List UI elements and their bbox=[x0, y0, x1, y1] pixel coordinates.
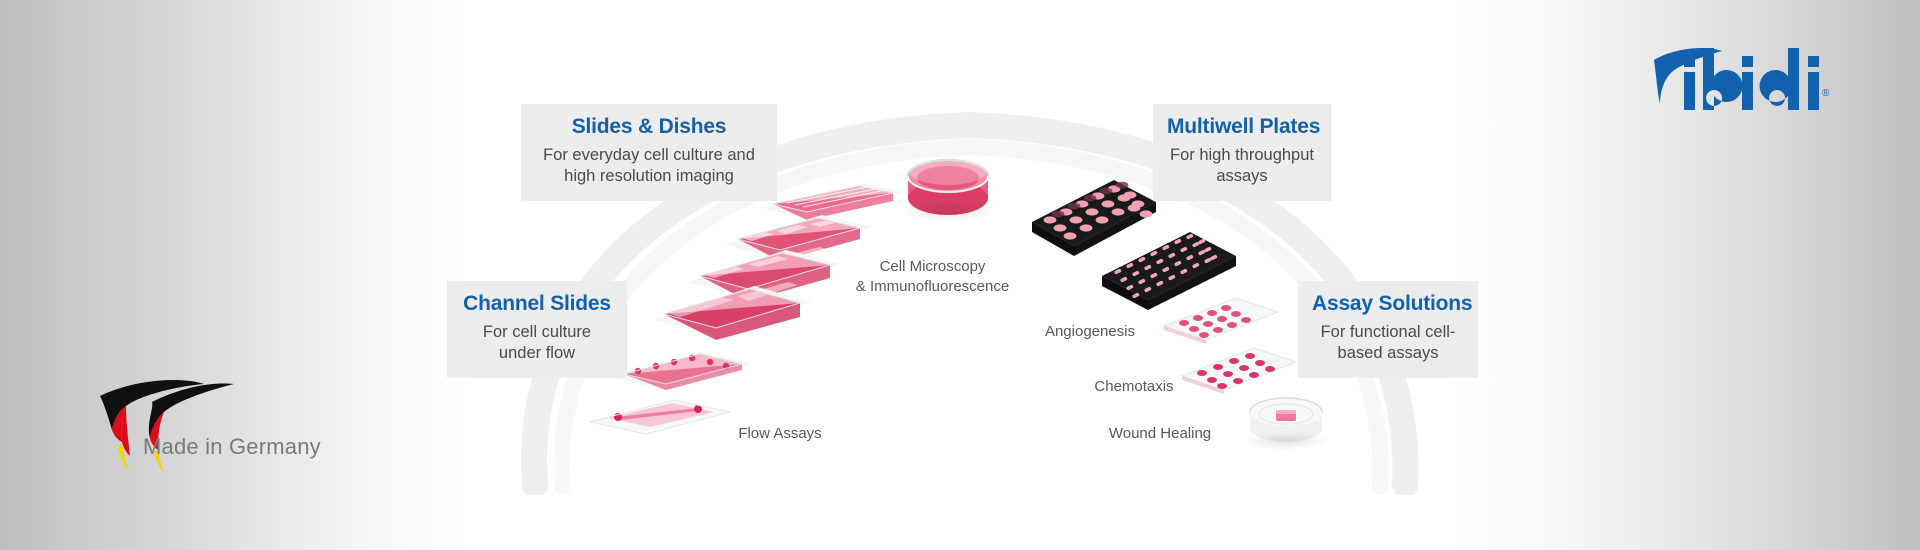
product-channel-slide-6ch bbox=[608, 340, 758, 398]
product-wound-healing-dish bbox=[1240, 388, 1332, 450]
category-card-assay-solutions[interactable]: Assay Solutions For functional cell-base… bbox=[1298, 281, 1478, 378]
caption-cell-microscopy: Cell Microscopy & Immunofluorescence bbox=[855, 257, 1010, 297]
caption-flow-assays: Flow Assays bbox=[735, 424, 825, 444]
category-subtitle: For high throughput assays bbox=[1167, 145, 1317, 187]
made-in-germany-text: Made in Germany bbox=[143, 434, 321, 460]
poster-canvas: Slides & Dishes For everyday cell cultur… bbox=[0, 0, 1920, 550]
category-title: Slides & Dishes bbox=[535, 114, 763, 140]
category-subtitle: For functional cell-based assays bbox=[1312, 322, 1464, 364]
category-subtitle: For everyday cell culture and high resol… bbox=[535, 145, 763, 187]
category-title: Multiwell Plates bbox=[1167, 114, 1317, 140]
product-chamber-slide-2well bbox=[648, 276, 820, 342]
caption-line-1: Cell Microscopy bbox=[855, 257, 1010, 277]
category-card-multiwell-plates[interactable]: Multiwell Plates For high throughput ass… bbox=[1153, 104, 1331, 201]
product-angiogenesis-slide bbox=[1160, 290, 1282, 346]
caption-angiogenesis: Angiogenesis bbox=[1040, 322, 1140, 342]
category-card-slides-dishes[interactable]: Slides & Dishes For everyday cell cultur… bbox=[521, 104, 777, 201]
caption-chemotaxis: Chemotaxis bbox=[1088, 377, 1180, 397]
caption-line-2: & Immunofluorescence bbox=[855, 277, 1010, 297]
product-channel-slide-flat bbox=[586, 392, 734, 438]
category-title: Assay Solutions bbox=[1312, 291, 1464, 317]
category-title: Channel Slides bbox=[461, 291, 613, 317]
product-petri-dish bbox=[900, 148, 996, 222]
registered-trademark-icon: ® bbox=[1822, 88, 1829, 99]
ibidi-logo[interactable] bbox=[1648, 42, 1840, 114]
caption-wound-healing: Wound Healing bbox=[1105, 424, 1215, 444]
category-subtitle: For cell culture under flow bbox=[461, 322, 613, 364]
category-card-channel-slides[interactable]: Channel Slides For cell culture under fl… bbox=[447, 281, 627, 378]
